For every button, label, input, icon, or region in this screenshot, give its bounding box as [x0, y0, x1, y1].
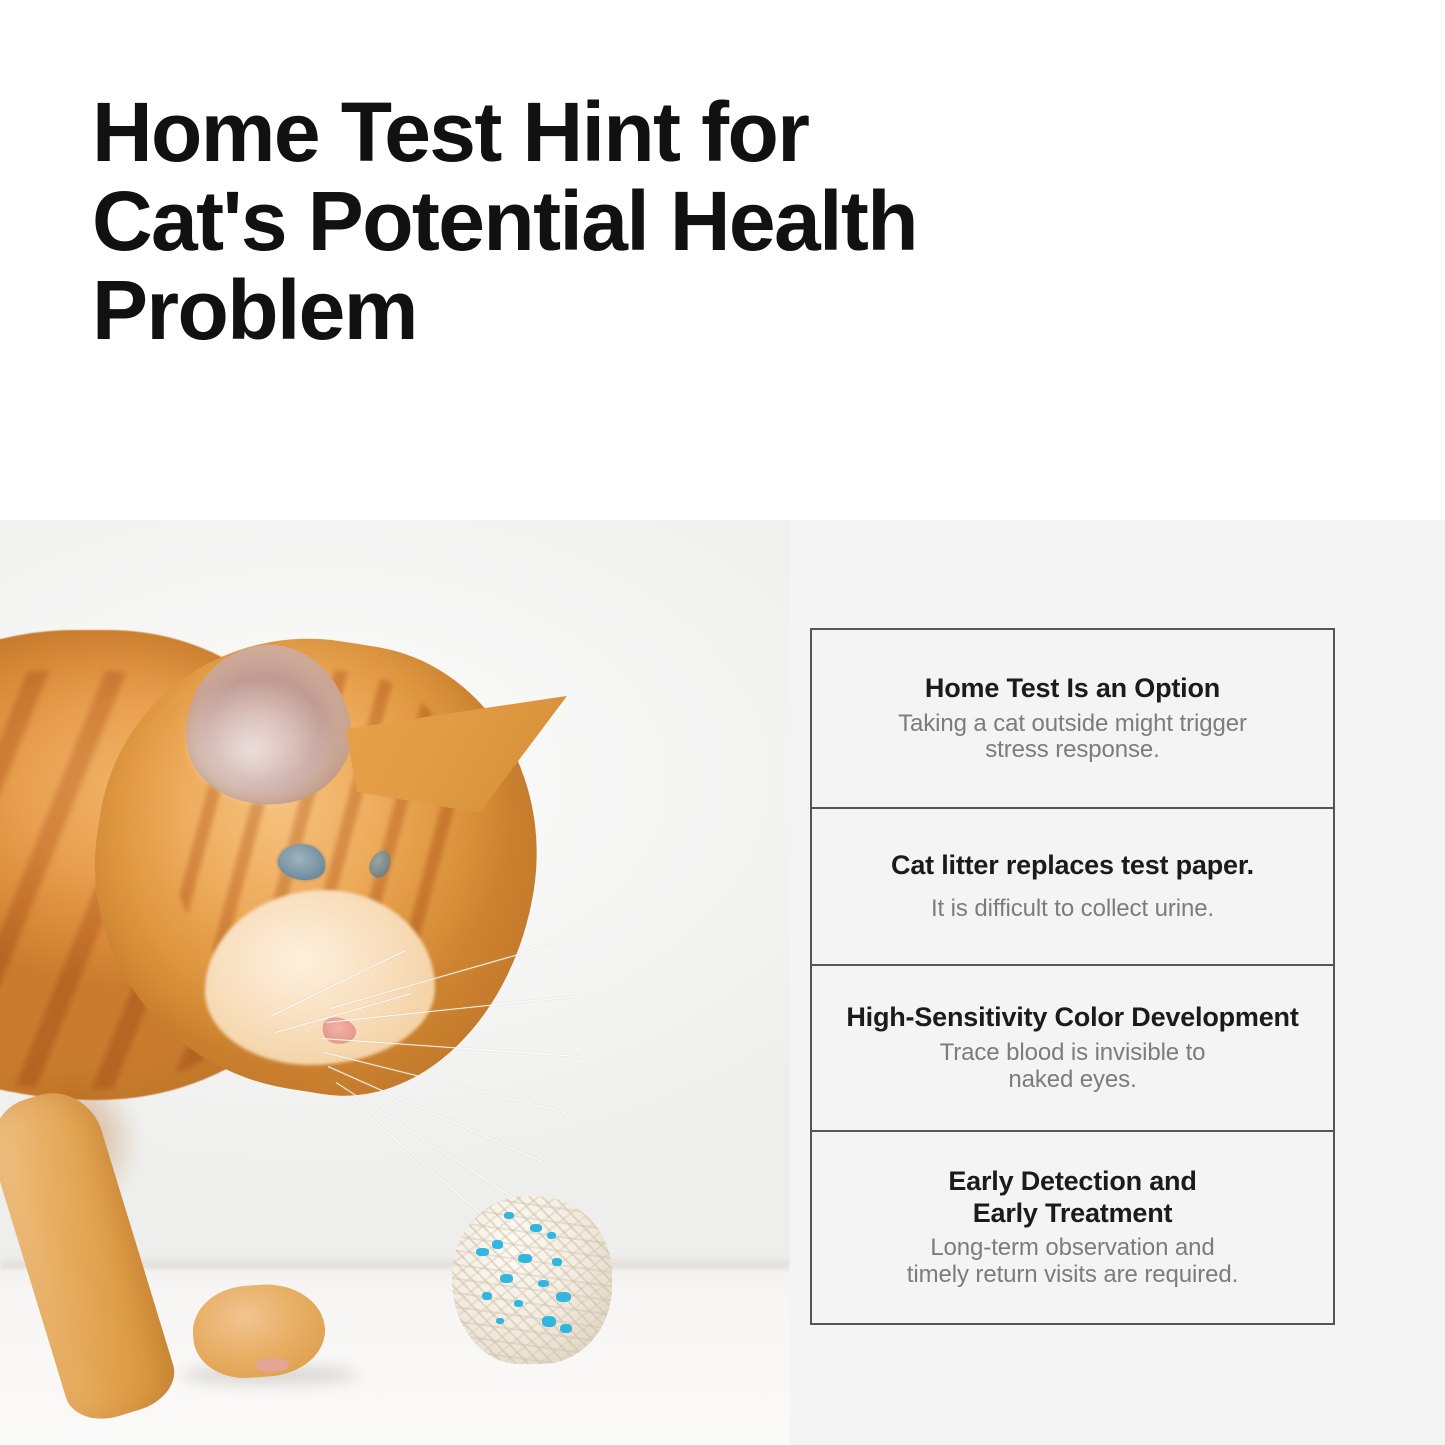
feature-title: Cat litter replaces test paper. — [891, 850, 1254, 882]
feature-title: High-Sensitivity Color Development — [846, 1002, 1298, 1034]
whisker — [322, 1038, 579, 1057]
whisker — [336, 1082, 516, 1199]
feature-item-home-test[interactable]: Home Test Is an Option Taking a cat outs… — [812, 630, 1333, 809]
feature-description: Trace blood is invisible to naked eyes. — [940, 1040, 1206, 1094]
feature-item-cat-litter[interactable]: Cat litter replaces test paper. It is di… — [812, 809, 1333, 966]
litter-grains — [452, 1196, 612, 1364]
feature-list: Home Test Is an Option Taking a cat outs… — [810, 628, 1335, 1325]
litter-granule — [552, 1258, 562, 1266]
feature-description: Taking a cat outside might trigger stres… — [898, 711, 1247, 765]
feature-title: Early Detection and Early Treatment — [948, 1166, 1196, 1230]
litter-ball — [452, 1196, 612, 1364]
litter-granule — [482, 1292, 492, 1300]
litter-granule — [496, 1318, 504, 1324]
litter-granule — [492, 1240, 503, 1249]
litter-granule — [518, 1254, 532, 1263]
cat-ear-fuzz — [185, 670, 350, 805]
page-title: Home Test Hint for Cat's Potential Healt… — [92, 88, 1192, 355]
cat-photo — [0, 520, 790, 1445]
feature-description: It is difficult to collect urine. — [931, 896, 1214, 923]
litter-granule — [500, 1274, 513, 1283]
litter-granule — [504, 1212, 514, 1219]
litter-granule — [556, 1292, 571, 1302]
litter-granule — [514, 1300, 523, 1307]
litter-granule — [530, 1224, 542, 1232]
cat-whiskers — [150, 990, 570, 1190]
whisker — [326, 996, 575, 1023]
content-panel: Home Test Is an Option Taking a cat outs… — [0, 520, 1445, 1445]
title-section: Home Test Hint for Cat's Potential Healt… — [0, 0, 1445, 520]
feature-description: Long-term observation and timely return … — [907, 1235, 1238, 1289]
feature-item-early-detection[interactable]: Early Detection and Early Treatment Long… — [812, 1132, 1333, 1323]
feature-item-color-development[interactable]: High-Sensitivity Color Development Trace… — [812, 966, 1333, 1132]
whisker — [324, 1052, 567, 1113]
litter-granule — [476, 1248, 489, 1256]
litter-granule — [542, 1316, 556, 1327]
litter-granule — [560, 1324, 572, 1333]
cat-toe-pad — [255, 1358, 289, 1372]
feature-title: Home Test Is an Option — [925, 673, 1220, 705]
litter-granule — [547, 1232, 556, 1239]
whisker — [276, 993, 411, 1033]
litter-granule — [538, 1280, 549, 1287]
